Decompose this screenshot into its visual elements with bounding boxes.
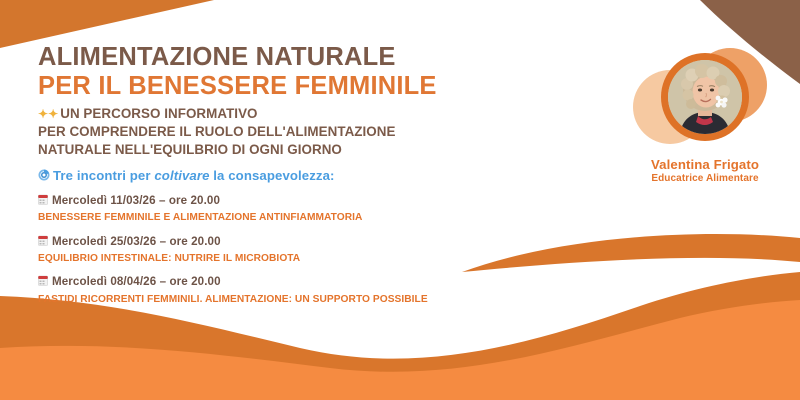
poster-subtitle: ✦✦UN PERCORSO INFORMATIVO PER COMPRENDER… xyxy=(38,105,468,159)
poster-title-line-2: PER IL BENESSERE FEMMINILE xyxy=(38,73,468,101)
poster-subtitle-line-2: PER COMPRENDERE IL RUOLO DELL'ALIMENTAZI… xyxy=(38,124,395,139)
meeting-item: Mercoledì 08/04/26 – ore 20.00 FASTIDI R… xyxy=(38,275,468,306)
poster-subtitle-line-1: UN PERCORSO INFORMATIVO xyxy=(60,106,257,121)
top-left-orange-triangle xyxy=(0,0,214,48)
meeting-item: Mercoledì 11/03/26 – ore 20.00 BENESSERE… xyxy=(38,194,468,225)
meeting-date: Mercoledì 08/04/26 – ore 20.00 xyxy=(38,275,468,289)
meetings-intro-emphasis: coltivare xyxy=(154,168,209,183)
headline-block: ALIMENTAZIONE NATURALE PER IL BENESSERE … xyxy=(38,44,468,159)
meetings-intro-suffix: la consapevolezza: xyxy=(210,168,335,183)
poster-canvas: ALIMENTAZIONE NATURALE PER IL BENESSERE … xyxy=(0,0,800,400)
presenter-portrait xyxy=(668,60,742,134)
meeting-topic: EQUILIBRIO INTESTINALE: NUTRIRE IL MICRO… xyxy=(38,252,468,265)
calendar-icon xyxy=(38,275,48,286)
presenter-block: Valentina Frigato Educatrice Alimentare xyxy=(620,40,790,184)
meeting-item: Mercoledì 25/03/26 – ore 20.00 EQUILIBRI… xyxy=(38,235,468,266)
avatar-stack xyxy=(620,40,790,152)
calendar-icon xyxy=(38,194,48,205)
meeting-topic: FASTIDI RICORRENTI FEMMINILI. ALIMENTAZI… xyxy=(38,293,468,306)
meeting-topic: BENESSERE FEMMINILE E ALIMENTAZIONE ANTI… xyxy=(38,211,468,224)
meetings-block: Tre incontri per coltivare la consapevol… xyxy=(38,168,468,316)
poster-subtitle-line-3: NATURALE NELL'EQUILBRIO DI OGNI GIORNO xyxy=(38,142,342,157)
avatar-ring xyxy=(661,53,749,141)
meeting-date: Mercoledì 25/03/26 – ore 20.00 xyxy=(38,235,468,249)
meetings-intro-prefix: Tre incontri per xyxy=(53,168,154,183)
cyclone-icon xyxy=(38,169,50,181)
poster-title-line-1: ALIMENTAZIONE NATURALE xyxy=(38,44,468,72)
meeting-date-text: Mercoledì 25/03/26 – ore 20.00 xyxy=(52,235,221,248)
presenter-name: Valentina Frigato xyxy=(620,157,790,172)
meetings-intro: Tre incontri per coltivare la consapevol… xyxy=(38,168,468,183)
calendar-icon xyxy=(38,235,48,246)
meeting-date-text: Mercoledì 08/04/26 – ore 20.00 xyxy=(52,275,221,288)
presenter-role: Educatrice Alimentare xyxy=(620,173,790,184)
avatar xyxy=(668,60,742,134)
sparkles-icon: ✦✦ xyxy=(38,107,58,121)
wave-thin-arc xyxy=(462,234,800,272)
meeting-date-text: Mercoledì 11/03/26 – ore 20.00 xyxy=(52,194,220,207)
meeting-date: Mercoledì 11/03/26 – ore 20.00 xyxy=(38,194,468,208)
